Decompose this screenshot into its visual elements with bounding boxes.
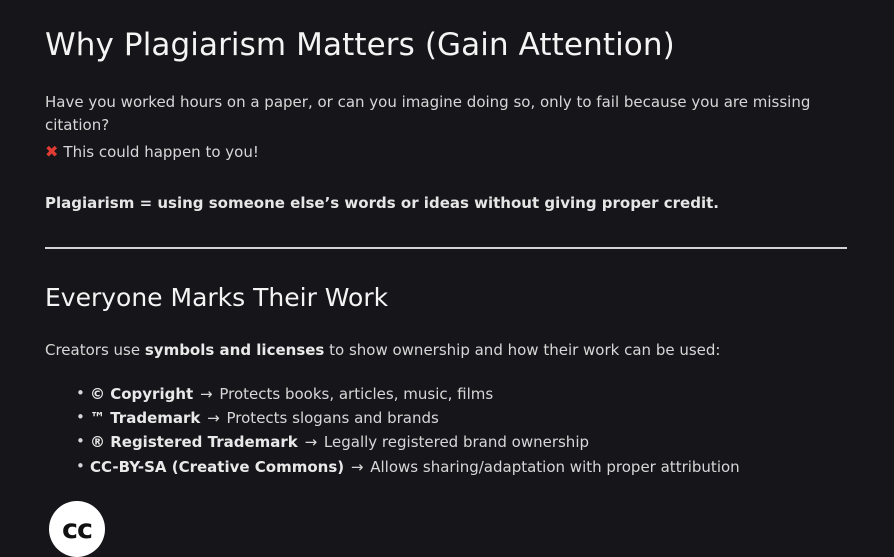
list-item-description: Legally registered brand ownership <box>324 433 589 451</box>
section-intro-emphasis: symbols and licenses <box>145 341 325 359</box>
list-item-term: ™ Trademark <box>90 409 200 427</box>
arrow-icon: → <box>303 433 320 451</box>
section-intro-prefix: Creators use <box>45 341 145 359</box>
slide-container: Why Plagiarism Matters (Gain Attention) … <box>0 0 894 542</box>
list-item: ™ Trademark → Protects slogans and brand… <box>76 406 848 430</box>
arrow-icon: → <box>349 458 366 476</box>
list-item-term: © Copyright <box>90 385 193 403</box>
arrow-icon: → <box>205 409 222 427</box>
list-item: ® Registered Trademark → Legally registe… <box>76 430 848 454</box>
list-item: © Copyright → Protects books, articles, … <box>76 382 848 406</box>
section-intro-suffix: to show ownership and how their work can… <box>324 341 720 359</box>
list-item-description: Protects slogans and brands <box>227 409 439 427</box>
lead-paragraph-text: Have you worked hours on a paper, or can… <box>45 93 810 135</box>
section-divider <box>45 247 847 249</box>
list-item: CC-BY-SA (Creative Commons) → Allows sha… <box>76 455 848 479</box>
warning-line: ✖This could happen to you! <box>45 139 820 165</box>
list-item-description: Allows sharing/adaptation with proper at… <box>370 458 739 476</box>
creative-commons-badge-wrap: cc <box>49 501 848 557</box>
section-heading: Everyone Marks Their Work <box>45 283 848 313</box>
list-item-term: ® Registered Trademark <box>90 433 298 451</box>
section-intro: Creators use symbols and licenses to sho… <box>45 339 848 362</box>
list-item-description: Protects books, articles, music, films <box>219 385 493 403</box>
list-item-term: CC-BY-SA (Creative Commons) <box>90 458 344 476</box>
plagiarism-definition: Plagiarism = using someone else’s words … <box>45 192 848 215</box>
lead-paragraph: Have you worked hours on a paper, or can… <box>45 91 820 165</box>
cross-mark-icon: ✖ <box>45 139 58 164</box>
page-title: Why Plagiarism Matters (Gain Attention) <box>45 26 848 65</box>
warning-text: This could happen to you! <box>63 143 258 161</box>
arrow-icon: → <box>198 385 215 403</box>
creative-commons-icon: cc <box>49 501 105 557</box>
symbols-list: © Copyright → Protects books, articles, … <box>45 382 848 479</box>
